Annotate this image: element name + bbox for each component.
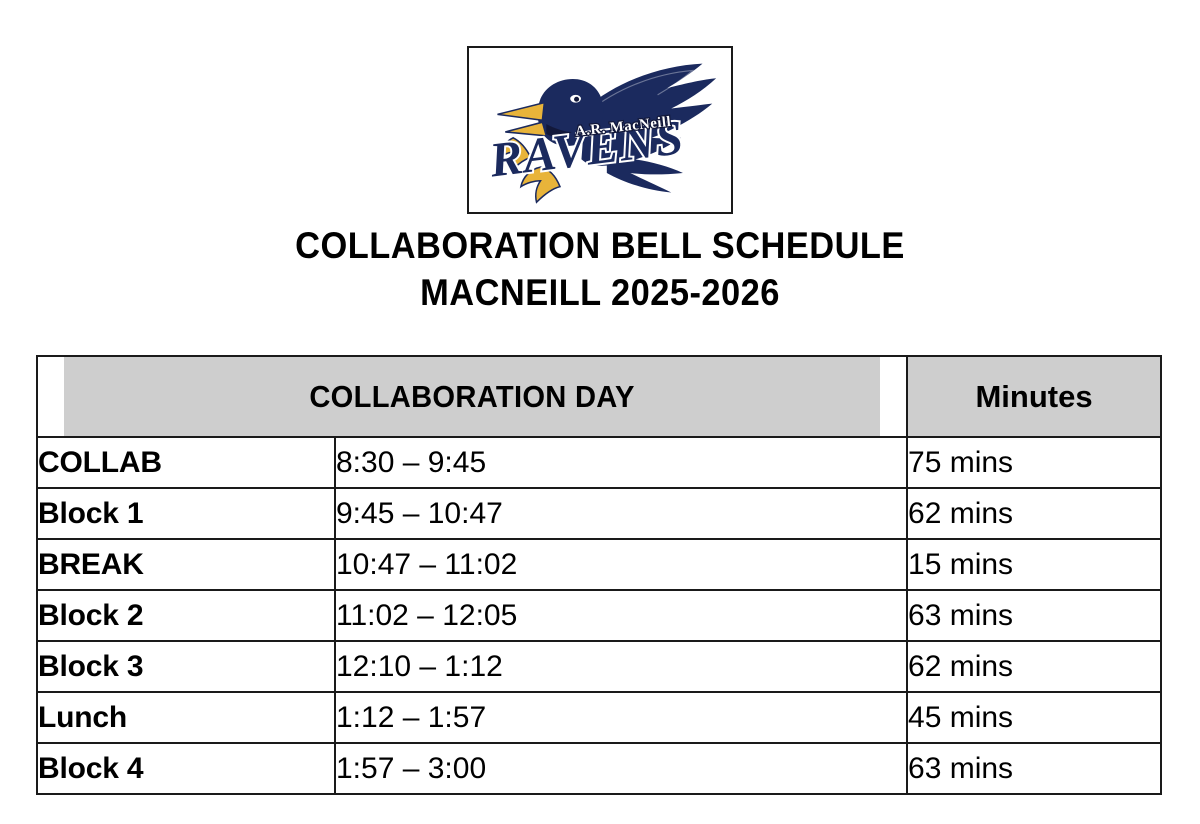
row-minutes: 75 mins	[907, 437, 1161, 488]
row-period-name: COLLAB	[37, 437, 335, 488]
row-minutes: 45 mins	[907, 692, 1161, 743]
row-minutes: 15 mins	[907, 539, 1161, 590]
row-time: 9:45 – 10:47	[335, 488, 907, 539]
row-period-name: BREAK	[37, 539, 335, 590]
row-period-name: Block 1	[37, 488, 335, 539]
bell-schedule-table: COLLABORATION DAY Minutes COLLAB 8:30 – …	[36, 355, 1162, 795]
row-period-name: Block 3	[37, 641, 335, 692]
title-line-1: COLLABORATION BELL SCHEDULE	[42, 222, 1158, 269]
ravens-logo-icon: RAVENS A.R. MacNeill	[469, 48, 731, 212]
row-time: 12:10 – 1:12	[335, 641, 907, 692]
table-row: COLLAB 8:30 – 9:45 75 mins	[37, 437, 1161, 488]
row-time: 8:30 – 9:45	[335, 437, 907, 488]
row-time: 1:12 – 1:57	[335, 692, 907, 743]
row-period-name: Block 4	[37, 743, 335, 794]
row-minutes: 63 mins	[907, 590, 1161, 641]
table-row: Lunch 1:12 – 1:57 45 mins	[37, 692, 1161, 743]
row-time: 1:57 – 3:00	[335, 743, 907, 794]
title-line-2: MACNEILL 2025-2026	[42, 269, 1158, 316]
page-title: COLLABORATION BELL SCHEDULE MACNEILL 202…	[0, 222, 1200, 316]
table-header-row: COLLABORATION DAY Minutes	[37, 356, 1161, 437]
school-logo-box: RAVENS A.R. MacNeill	[467, 46, 733, 214]
table-row: Block 2 11:02 – 12:05 63 mins	[37, 590, 1161, 641]
table-row: Block 1 9:45 – 10:47 62 mins	[37, 488, 1161, 539]
row-time: 11:02 – 12:05	[335, 590, 907, 641]
row-period-name: Lunch	[37, 692, 335, 743]
header-minutes: Minutes	[907, 356, 1161, 437]
row-minutes: 62 mins	[907, 641, 1161, 692]
table-body: COLLAB 8:30 – 9:45 75 mins Block 1 9:45 …	[37, 437, 1161, 794]
row-minutes: 62 mins	[907, 488, 1161, 539]
row-period-name: Block 2	[37, 590, 335, 641]
table-row: Block 3 12:10 – 1:12 62 mins	[37, 641, 1161, 692]
row-time: 10:47 – 11:02	[335, 539, 907, 590]
header-collaboration-day: COLLABORATION DAY	[63, 356, 881, 437]
row-minutes: 63 mins	[907, 743, 1161, 794]
table-row: BREAK 10:47 – 11:02 15 mins	[37, 539, 1161, 590]
table-row: Block 4 1:57 – 3:00 63 mins	[37, 743, 1161, 794]
